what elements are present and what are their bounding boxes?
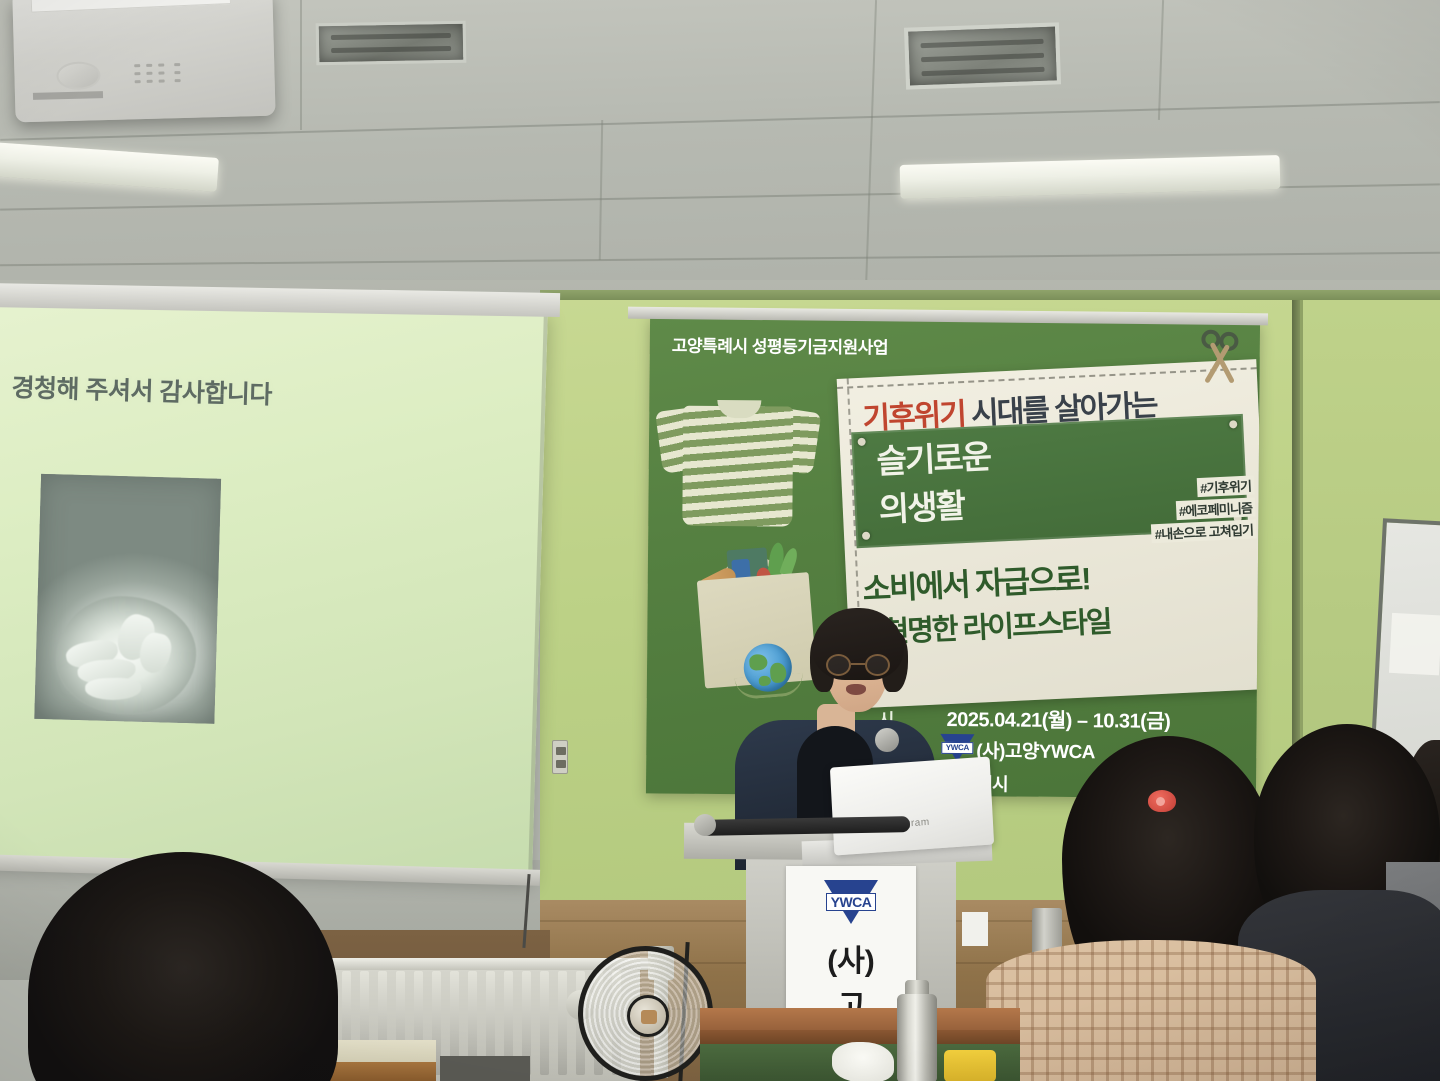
hashtag-item: #내손으로 고쳐입기 <box>1151 519 1256 543</box>
tote-bag-icon <box>686 533 827 693</box>
fluorescent-light <box>0 142 219 192</box>
wall-outlet[interactable] <box>552 740 568 774</box>
ywca-logo-icon: YWCA <box>824 880 878 924</box>
projector-label <box>33 91 103 100</box>
ceiling <box>0 0 1440 300</box>
projector-lens <box>56 61 101 90</box>
hashtag-item: #에코페미니즘 <box>1175 497 1255 520</box>
audience-body-plaid <box>986 940 1316 1081</box>
tshirt-icon <box>660 387 816 528</box>
banner-date-range: 2025.04.21(월) – 10.31(금) <box>946 703 1170 734</box>
hvac-vent <box>904 22 1061 89</box>
tissue[interactable] <box>832 1042 894 1081</box>
hvac-vent-secondary <box>316 21 467 66</box>
laptop-lid[interactable]: gram <box>830 756 994 855</box>
banner-box-line2: 의생활 <box>878 479 965 531</box>
laurel-icon <box>735 673 805 700</box>
speaker-head <box>812 612 904 722</box>
banner-header-text: 고양특례시 성평등기금지원사업 <box>672 332 888 359</box>
banner-title-box: 슬기로운 의생활 #기후위기 #에코페미니즘 #내손으로 고쳐입기 <box>851 414 1248 548</box>
scissors-icon <box>1198 328 1242 384</box>
yellow-cup[interactable] <box>944 1050 996 1081</box>
hands-illustration <box>55 594 198 716</box>
hashtag-item: #기후위기 <box>1197 475 1255 497</box>
banner-hashtags: #기후위기 #에코페미니즘 #내손으로 고쳐입기 <box>1094 475 1257 548</box>
steel-water-bottle[interactable] <box>897 994 937 1081</box>
banner-box-line1: 슬기로운 <box>875 430 991 483</box>
slide-title: 경청해 주셔서 감사합니다 <box>11 368 272 411</box>
projection-screen: 경청해 주셔서 감사합니다 <box>0 297 548 882</box>
foreground-table <box>700 1008 1020 1032</box>
ywca-logo-text: YWCA <box>941 742 973 754</box>
hair-clip-icon <box>1148 790 1176 812</box>
chair-back[interactable] <box>440 1056 530 1081</box>
fluorescent-light <box>900 155 1281 199</box>
projector-vent-grille <box>134 63 191 92</box>
glasses-icon <box>826 654 892 676</box>
projector-port-plate <box>29 0 231 13</box>
ceiling-projector <box>12 0 275 122</box>
lecture-room-photo: 경청해 주셔서 감사합니다 고양특례시 성평등기금지원사업 <box>0 0 1440 1081</box>
electric-fan[interactable] <box>578 946 713 1081</box>
podium-sign-line1: (사) <box>786 936 916 980</box>
microphone-knob <box>694 814 716 836</box>
lapel-microphone <box>875 728 899 752</box>
white-box-object <box>962 912 988 946</box>
banner-organizer: (사)고양YWCA <box>976 736 1095 764</box>
podium-logo-text: YWCA <box>826 893 876 911</box>
slide-image-clasped-hands <box>34 474 221 724</box>
event-banner: 고양특례시 성평등기금지원사업 <box>646 315 1260 798</box>
fan-hub <box>627 995 669 1037</box>
podium-sign: YWCA (사) 고 <box>786 866 916 1016</box>
